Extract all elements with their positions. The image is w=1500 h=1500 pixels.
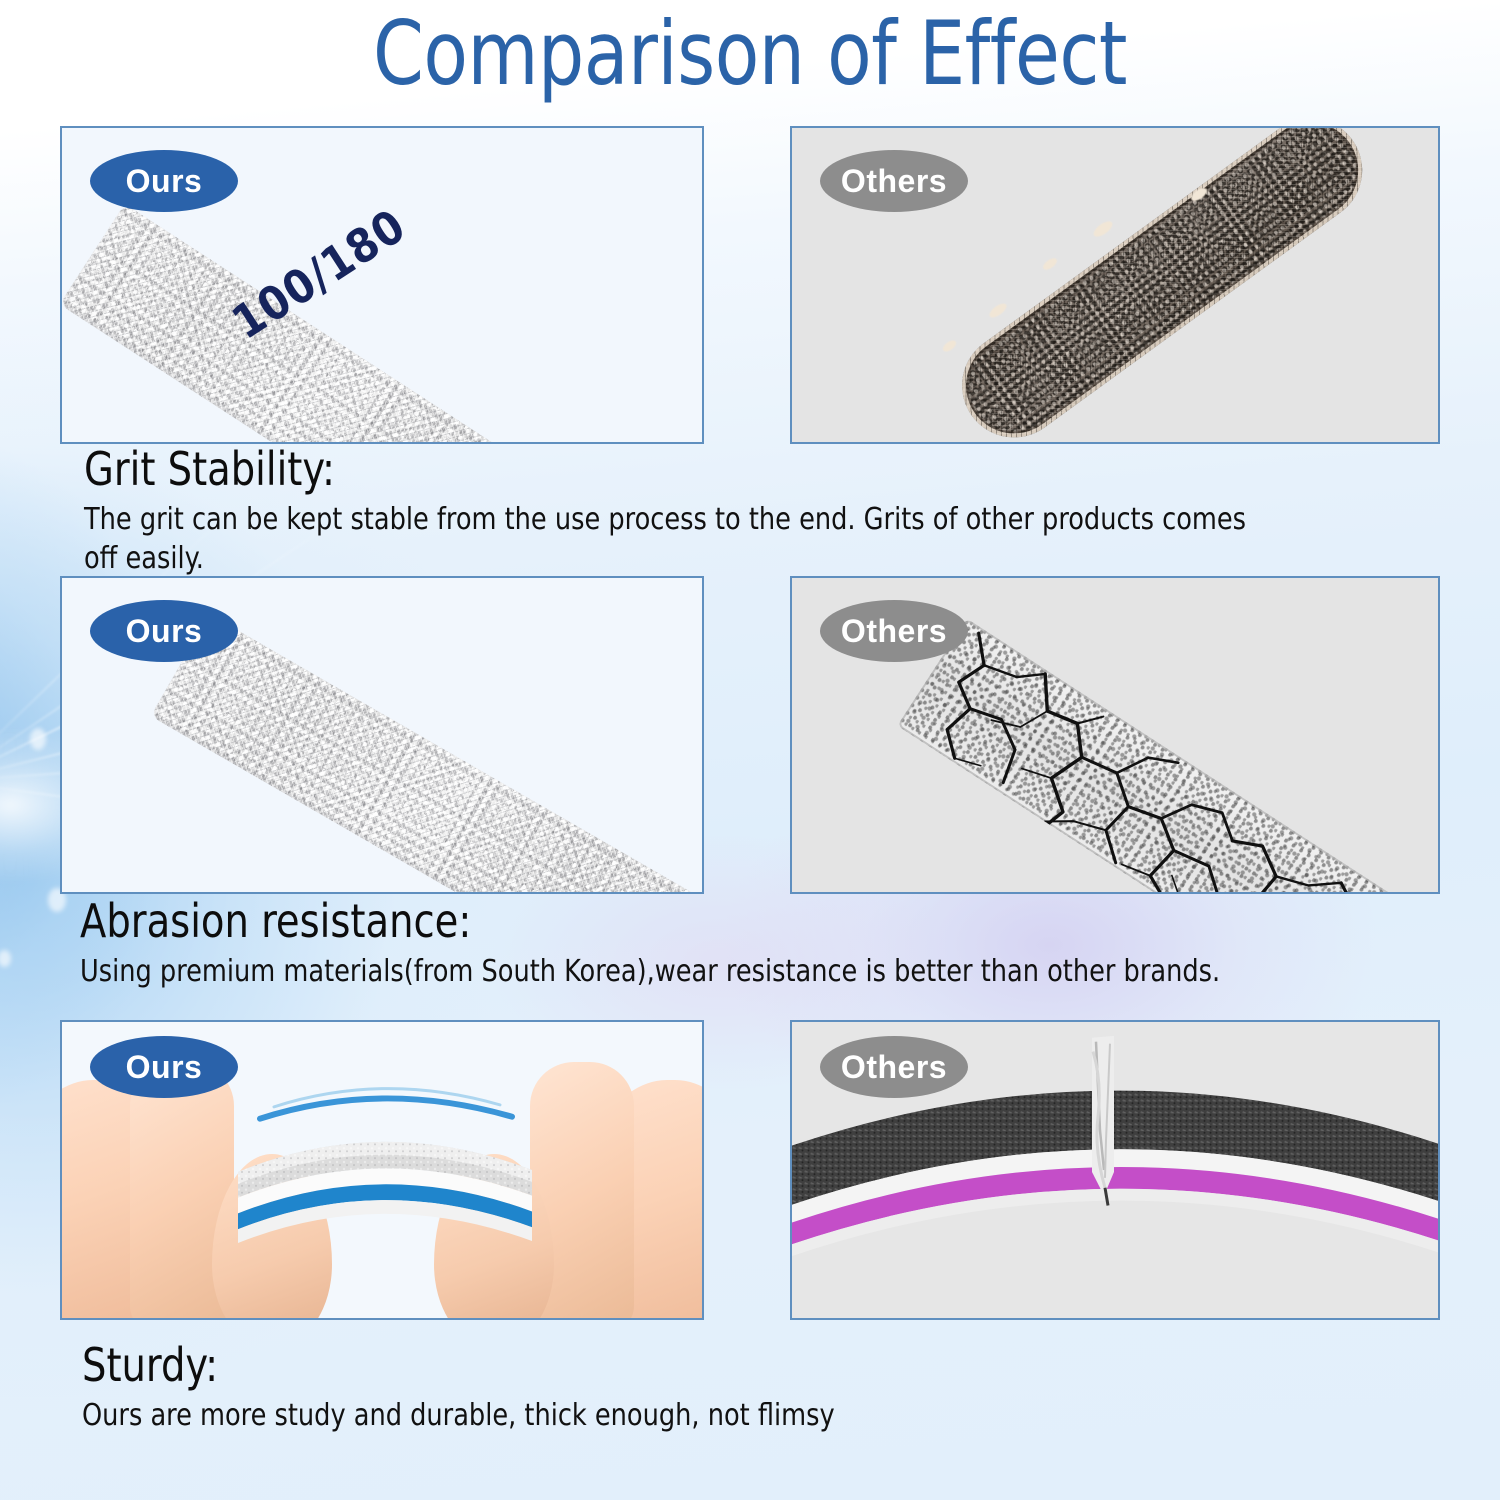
grit-number-label: 100/180: [222, 198, 415, 349]
nail-file-grit-surface: [151, 614, 705, 894]
caption-body-line: The grit can be kept stable from the use…: [84, 500, 1395, 540]
others-panel-grit-stability: Others: [790, 126, 1440, 444]
infographic-page: Comparison of Effect 100/180 Ours: [0, 0, 1500, 1500]
caption-body-line: Using premium materials(from South Korea…: [80, 952, 1395, 992]
panel-row: Ours: [60, 576, 1440, 894]
cracked-nail-file: [897, 618, 1440, 894]
badge-others: Others: [820, 600, 968, 662]
caption-heading: Abrasion resistance:: [80, 896, 1367, 948]
badge-ours: Ours: [90, 1036, 238, 1098]
caption-sturdy: Sturdy: Ours are more study and durable,…: [84, 1340, 1464, 1435]
ours-panel-sturdy: Ours: [60, 1020, 704, 1320]
light-sparkle: [0, 950, 11, 967]
badge-ours-label: Ours: [126, 163, 203, 200]
section-abrasion-resistance: Ours: [0, 576, 1500, 894]
badge-others-label: Others: [841, 1049, 947, 1086]
caption-body-line: off easily.: [84, 539, 1395, 579]
others-panel-abrasion: Others: [790, 576, 1440, 894]
grit-wear-chip: [987, 301, 1008, 320]
caption-heading: Sturdy:: [82, 1340, 1367, 1392]
badge-others-label: Others: [841, 613, 947, 650]
badge-ours-label: Ours: [126, 1049, 203, 1086]
page-title: Comparison of Effect: [60, 8, 1440, 100]
caption-abrasion-resistance: Abrasion resistance: Using premium mater…: [84, 896, 1464, 991]
badge-ours: Ours: [90, 600, 238, 662]
crack-pattern-icon: [897, 618, 1440, 894]
badge-ours-label: Ours: [126, 613, 203, 650]
caption-body: The grit can be kept stable from the use…: [84, 500, 1395, 579]
worn-dark-nail-file: [941, 126, 1382, 444]
badge-others: Others: [820, 1036, 968, 1098]
section-sturdy: Ours: [0, 1020, 1500, 1320]
caption-body: Using premium materials(from South Korea…: [80, 952, 1395, 992]
ours-panel-abrasion: Ours: [60, 576, 704, 894]
grit-wear-chip: [1041, 256, 1059, 272]
caption-body: Ours are more study and durable, thick e…: [82, 1396, 1395, 1436]
section-grit-stability: 100/180 Ours Others: [0, 126, 1500, 444]
grit-wear-chip: [941, 338, 958, 353]
ours-panel-grit-stability: 100/180 Ours: [60, 126, 704, 444]
caption-body-line: Ours are more study and durable, thick e…: [82, 1396, 1395, 1436]
badge-others-label: Others: [841, 163, 947, 200]
caption-grit-stability: Grit Stability: The grit can be kept sta…: [84, 444, 1464, 579]
badge-ours: Ours: [90, 150, 238, 212]
grit-wear-chip: [1091, 218, 1115, 239]
caption-heading: Grit Stability:: [84, 444, 1367, 496]
badge-others: Others: [820, 150, 968, 212]
panel-row: Ours: [60, 1020, 1440, 1320]
panel-row: 100/180 Ours Others: [60, 126, 1440, 444]
others-panel-sturdy: Others: [790, 1020, 1440, 1320]
